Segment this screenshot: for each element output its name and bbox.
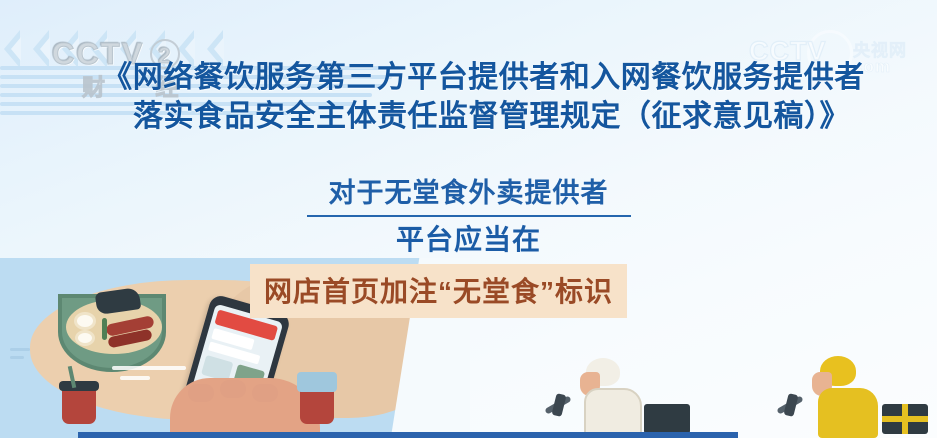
delivery-box-icon bbox=[644, 404, 690, 434]
egg-icon bbox=[74, 312, 96, 330]
deco-line bbox=[10, 348, 30, 351]
mirror-icon bbox=[551, 393, 566, 417]
subhead-1-wrapper: 对于无堂食外卖提供者 bbox=[0, 171, 937, 217]
deco-line bbox=[10, 356, 24, 359]
delivery-rider-white bbox=[540, 342, 680, 438]
deco-line bbox=[112, 366, 186, 370]
subhead-line-2: 平台应当在 bbox=[0, 218, 937, 258]
headline-line-2: 落实食品安全主体责任监督管理规定（征求意见稿）》 bbox=[0, 97, 937, 136]
delivery-rider-yellow bbox=[770, 342, 920, 438]
delivery-box-icon bbox=[882, 404, 928, 434]
iced-drink-icon bbox=[300, 386, 334, 424]
headline: 《网络餐饮服务第三方平台提供者和入网餐饮服务提供者 落实食品安全主体责任监督管理… bbox=[0, 58, 937, 136]
headline-line-1: 《网络餐饮服务第三方平台提供者和入网餐饮服务提供者 bbox=[0, 58, 937, 97]
vegetable-icon bbox=[102, 318, 107, 340]
callout-banner: 网店首页加注“无堂食”标识 bbox=[250, 264, 627, 318]
egg-icon-2 bbox=[75, 330, 95, 346]
mirror-icon bbox=[783, 393, 798, 417]
broadcast-frame: CCTV 2 财 经 CCTV 央视网 com 《网络餐饮服务第三方平台提供者和… bbox=[0, 0, 937, 438]
rider-body bbox=[584, 388, 642, 438]
subhead-line-1: 对于无堂食外卖提供者 bbox=[307, 171, 631, 217]
bottom-accent-bar bbox=[78, 432, 738, 438]
rider-body bbox=[818, 388, 878, 438]
deco-line bbox=[120, 376, 150, 380]
ramen-bowl-icon bbox=[58, 294, 166, 372]
drink-cup-icon bbox=[62, 386, 96, 424]
